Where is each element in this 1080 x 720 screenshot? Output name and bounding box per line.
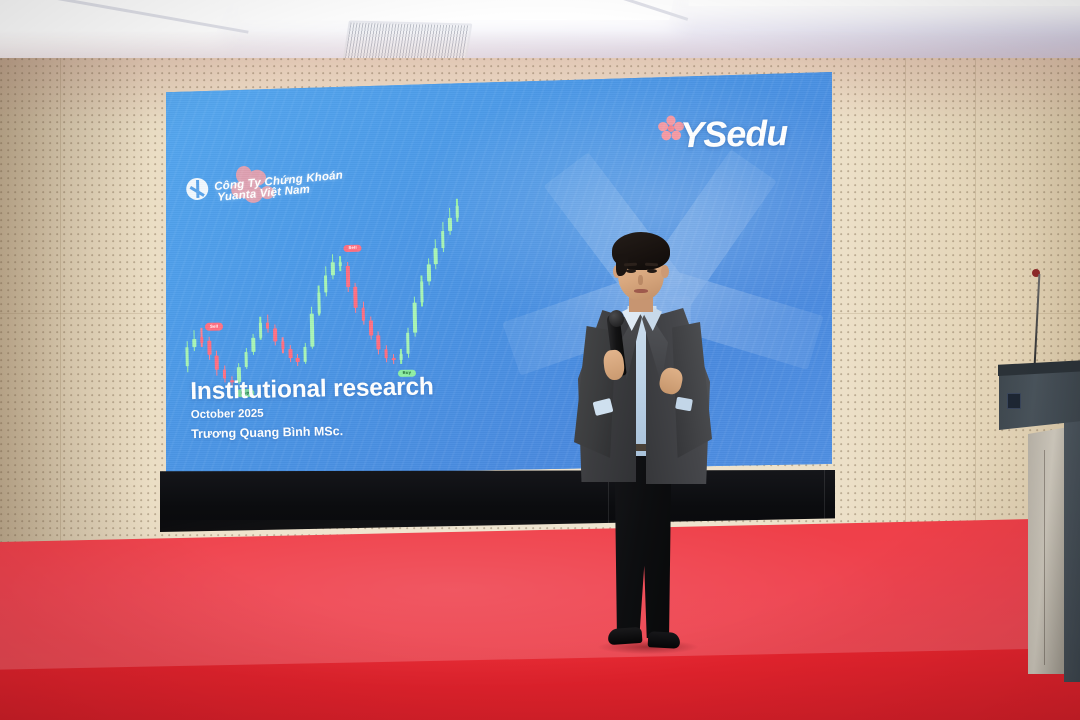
podium-control-panel	[1007, 393, 1021, 409]
shirt-cuff-right	[675, 397, 693, 412]
podium-column-edge	[1044, 450, 1045, 665]
eye-left	[626, 269, 636, 273]
wall-seam	[975, 58, 976, 578]
carpet-sheen	[0, 520, 1080, 720]
wall-seam	[905, 58, 906, 578]
belt-buckle	[636, 444, 647, 451]
ear-right	[661, 265, 669, 278]
mouth	[634, 289, 648, 293]
shoe-left	[607, 627, 642, 645]
podium	[996, 300, 1080, 720]
conference-stage-photo: Công Ty Chứng Khoán Yuanta Việt Nam	[0, 0, 1080, 720]
wall-shadow	[0, 58, 150, 578]
eye-right	[647, 269, 657, 273]
ceiling-light-panel	[0, 0, 244, 32]
ceiling-light-panel	[239, 0, 680, 20]
shoe-right	[648, 631, 681, 649]
hair	[612, 232, 670, 270]
nose	[638, 275, 643, 285]
ceiling-light-panel	[688, 0, 1080, 6]
presenter	[560, 222, 740, 662]
podium-column-side	[1064, 420, 1080, 682]
